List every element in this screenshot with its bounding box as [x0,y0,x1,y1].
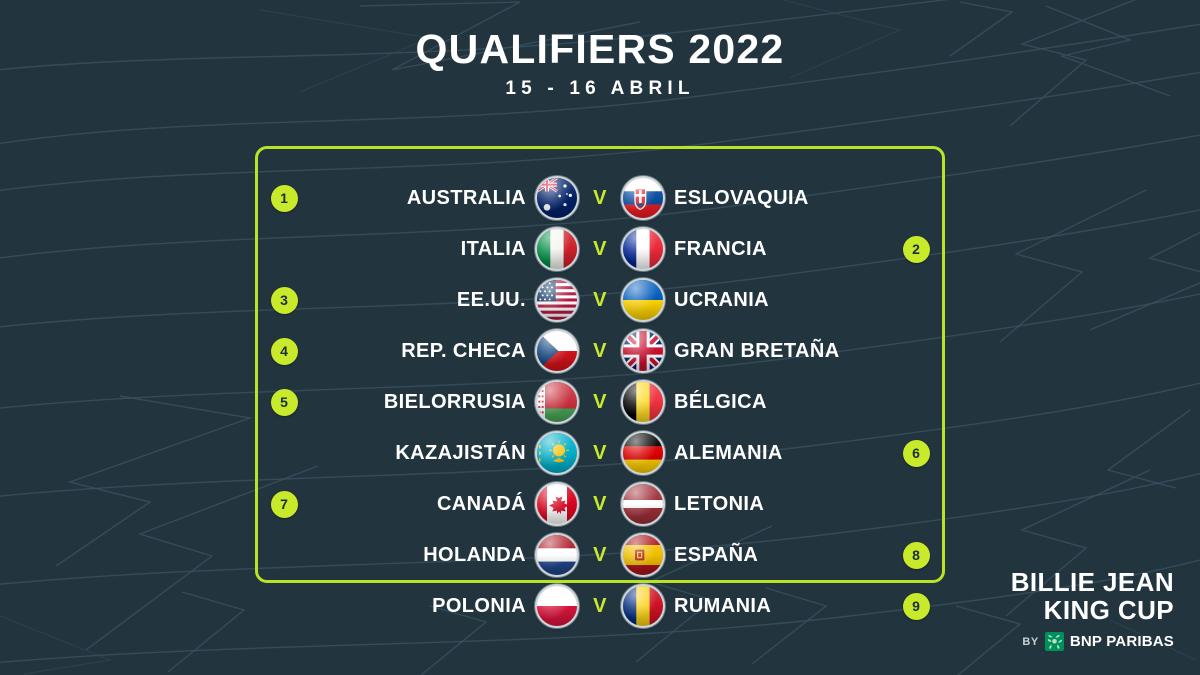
australia-flag-icon [537,178,577,218]
netherlands-flag-icon [537,535,577,575]
away-flag-cell [618,229,668,269]
home-team-name: EE.UU. [313,289,532,312]
home-team-name: ITALIA [313,238,532,261]
match-number-left-slot: 7 [255,491,313,518]
away-team-name: ESLOVAQUIA [668,187,887,210]
home-team-name: KAZAJISTÁN [313,442,532,465]
ukraine-flag-icon [623,280,663,320]
match-number-right-slot: 5 [887,389,945,416]
versus-label: V [582,595,618,618]
belgium-flag-icon [623,382,663,422]
match-number-right-slot: 7 [887,491,945,518]
match-number-badge: 2 [903,236,930,263]
home-team-name: AUSTRALIA [313,187,532,210]
match-number-badge: 7 [271,491,298,518]
home-flag-cell [532,382,582,422]
away-flag-cell [618,280,668,320]
match-row: 7 CANADÁ V LETONIA 7 [255,483,945,525]
home-flag-cell [532,586,582,626]
match-number-right-slot: 6 [887,440,945,467]
sponsor-by-label: BY [1022,636,1038,648]
away-team-name: GRAN BRETAÑA [668,340,887,363]
away-team-name: RUMANIA [668,595,887,618]
match-number-right-slot: 9 [887,593,945,620]
spain-flag-icon [623,535,663,575]
poland-flag-icon [537,586,577,626]
match-number-right-slot: 2 [887,236,945,263]
match-number-badge: 5 [271,389,298,416]
match-list: 1 AUSTRALIA V ESLOV [255,146,945,583]
away-flag-cell [618,178,668,218]
versus-label: V [582,391,618,414]
match-row: 5 BIELORRUSIA V BÉLGICA 5 [255,381,945,423]
versus-label: V [582,493,618,516]
slide-header: QUALIFIERS 2022 15 - 16 ABRIL [0,28,1200,100]
away-flag-cell [618,382,668,422]
match-number-badge: 6 [903,440,930,467]
match-row: 9 POLONIA V RUMANIA 9 [255,585,945,627]
match-number-left-slot: 1 [255,185,313,212]
italy-flag-icon [537,229,577,269]
versus-label: V [582,289,618,312]
away-flag-cell [618,586,668,626]
page-subtitle: 15 - 16 ABRIL [0,78,1200,100]
usa-flag-icon [537,280,577,320]
match-number-right-slot: 1 [887,185,945,212]
away-team-name: ALEMANIA [668,442,887,465]
match-number-left-slot: 5 [255,389,313,416]
match-row: 2 ITALIA V FRANCIA 2 [255,228,945,270]
away-team-name: BÉLGICA [668,391,887,414]
romania-flag-icon [623,586,663,626]
latvia-flag-icon [623,484,663,524]
great-britain-flag-icon [623,331,663,371]
match-number-left-slot: 9 [255,593,313,620]
versus-label: V [582,442,618,465]
away-team-name: FRANCIA [668,238,887,261]
away-flag-cell [618,433,668,473]
match-row: 8 HOLANDA V ESPAÑA 8 [255,534,945,576]
away-flag-cell [618,331,668,371]
match-number-left-slot: 2 [255,236,313,263]
match-number-right-slot: 4 [887,338,945,365]
canada-flag-icon [537,484,577,524]
home-team-name: POLONIA [313,595,532,618]
germany-flag-icon [623,433,663,473]
home-team-name: CANADÁ [313,493,532,516]
match-row: 1 AUSTRALIA V ESLOV [255,177,945,219]
away-team-name: ESPAÑA [668,544,887,567]
match-number-badge: 8 [903,542,930,569]
match-number-right-slot: 3 [887,287,945,314]
away-team-name: LETONIA [668,493,887,516]
away-flag-cell [618,484,668,524]
kazakhstan-flag-icon [537,433,577,473]
home-flag-cell [532,484,582,524]
match-number-badge: 1 [271,185,298,212]
away-flag-cell [618,535,668,575]
match-number-left-slot: 8 [255,542,313,569]
versus-label: V [582,544,618,567]
home-team-name: BIELORRUSIA [313,391,532,414]
presentation-slide: QUALIFIERS 2022 15 - 16 ABRIL 1 AUSTRALI… [0,0,1200,675]
slovakia-flag-icon [623,178,663,218]
czech-republic-flag-icon [537,331,577,371]
match-number-left-slot: 6 [255,440,313,467]
versus-label: V [582,238,618,261]
match-row: 6 KAZAJISTÁN V ALEMANIA 6 [255,432,945,474]
sponsor-row: BY BNP PARIBAS [1011,632,1174,651]
logo-line-2: KING CUP [1011,597,1174,625]
billie-jean-king-cup-logo: BILLIE JEAN KING CUP BY BNP PARIBA [1011,569,1174,651]
away-team-name: UCRANIA [668,289,887,312]
page-title: QUALIFIERS 2022 [0,28,1200,71]
match-number-badge: 3 [271,287,298,314]
match-number-badge: 4 [271,338,298,365]
versus-label: V [582,340,618,363]
match-number-badge: 9 [903,593,930,620]
match-row: 3 EE.UU. V UCRANIA [255,279,945,321]
belarus-flag-icon [537,382,577,422]
home-flag-cell [532,433,582,473]
home-flag-cell [532,331,582,371]
logo-line-1: BILLIE JEAN [1011,569,1174,597]
match-row: 4 REP. CHECA V GRAN BRETAÑA 4 [255,330,945,372]
home-flag-cell [532,229,582,269]
home-team-name: HOLANDA [313,544,532,567]
match-number-left-slot: 4 [255,338,313,365]
home-flag-cell [532,178,582,218]
home-flag-cell [532,535,582,575]
versus-label: V [582,187,618,210]
home-team-name: REP. CHECA [313,340,532,363]
match-number-left-slot: 3 [255,287,313,314]
france-flag-icon [623,229,663,269]
home-flag-cell [532,280,582,320]
bnp-paribas-star-icon [1045,632,1064,651]
match-number-right-slot: 8 [887,542,945,569]
sponsor-name: BNP PARIBAS [1070,633,1174,650]
